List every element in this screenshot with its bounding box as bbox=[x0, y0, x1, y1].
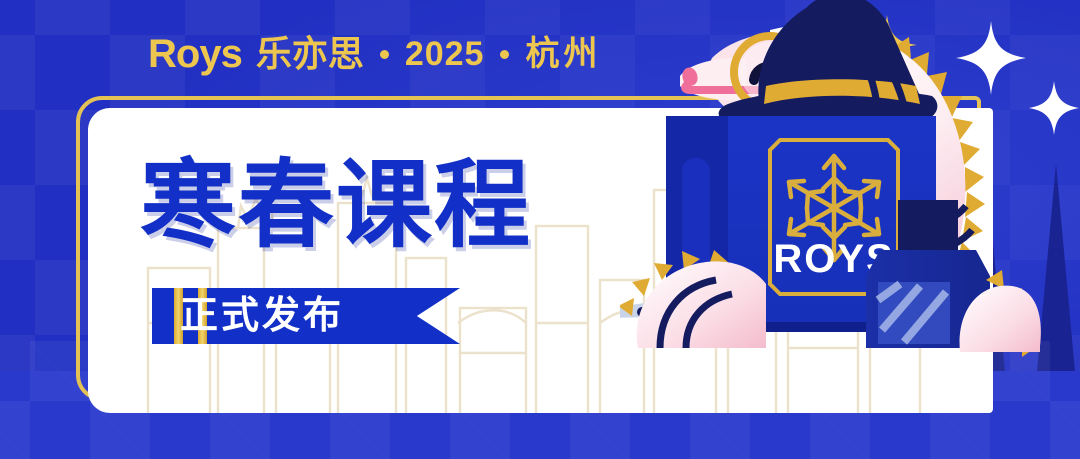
page-title: 寒春课程 bbox=[140, 158, 532, 254]
event-year: 2025 bbox=[405, 37, 485, 71]
separator-dot-icon bbox=[380, 50, 389, 59]
banner-header: Roys 乐亦思 2025 杭州 bbox=[148, 34, 601, 74]
ribbon-label: 正式发布 bbox=[180, 292, 344, 340]
event-city: 杭州 bbox=[525, 37, 601, 71]
promo-banner: 寒春课程 正式发布 Roys 乐亦思 2025 杭州 bbox=[0, 0, 1080, 459]
mascot-illustration: ROYS bbox=[620, 0, 1080, 459]
brand-logo-latin: Roys bbox=[148, 34, 242, 74]
brand-logo-cn: 乐亦思 bbox=[256, 36, 364, 72]
separator-dot-icon bbox=[500, 50, 509, 59]
